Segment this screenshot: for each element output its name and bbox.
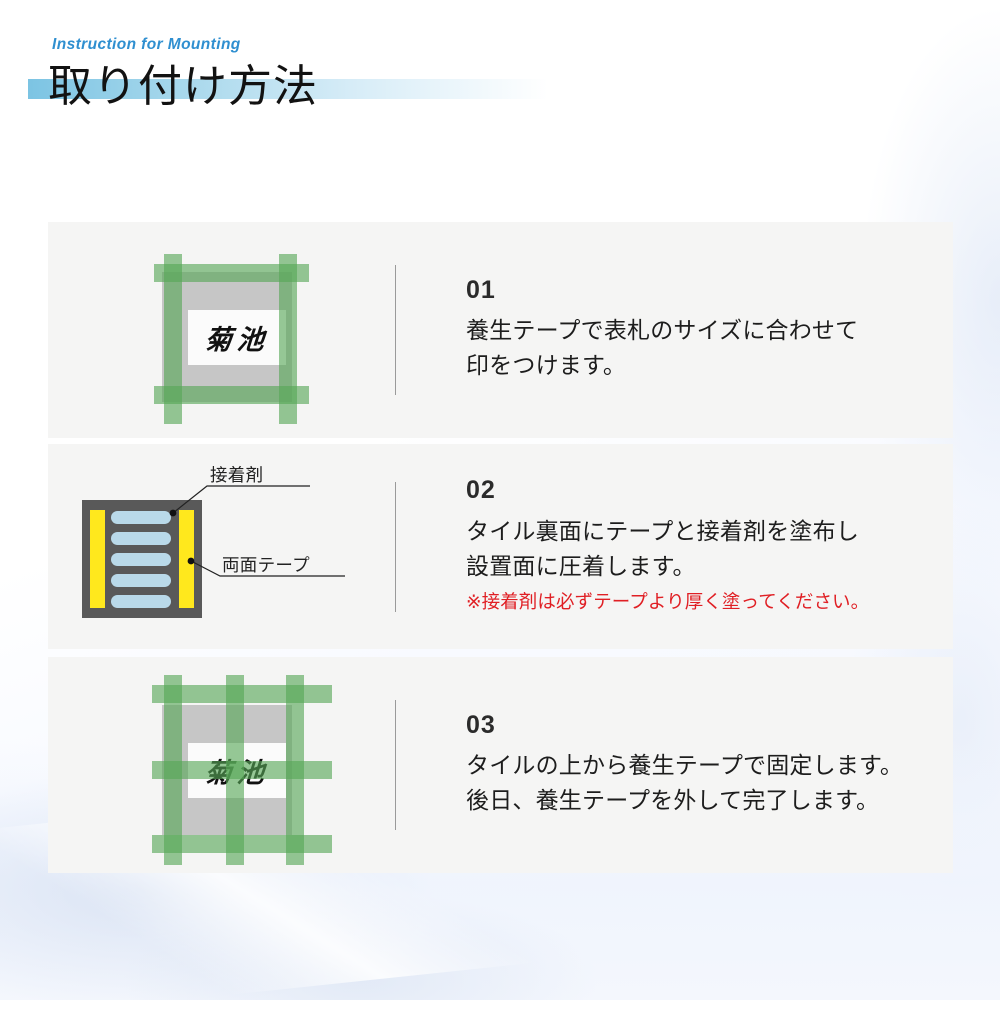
tape-strip-horizontal-bottom — [154, 386, 309, 404]
nameplate: 菊池 — [188, 310, 286, 365]
step-card-03: 菊池 03 タイルの上から養生テープで固定します。 後日、養生テープを外して完了… — [48, 657, 953, 873]
step-description-line: 印をつけます。 — [466, 348, 953, 383]
step-description-line: タイルの上から養生テープで固定します。 — [466, 748, 953, 783]
figure-plate-tape-grid: 菊池 — [126, 669, 336, 867]
step-figure-02: 接着剤 両面テープ — [48, 444, 395, 649]
tape-strip-horizontal-top — [154, 264, 309, 282]
figure-plate-tape-frame: 菊池 — [132, 246, 322, 424]
step-figure-03: 菊池 — [48, 657, 395, 873]
callout-label-adhesive: 接着剤 — [210, 462, 263, 487]
step-text-01: 01 養生テープで表札のサイズに合わせて 印をつけます。 — [396, 277, 953, 383]
page-title: 取り付け方法 — [48, 50, 318, 114]
step-card-02: 接着剤 両面テープ 02 タイル裏面にテープと接着剤を塗布し 設置面に圧着します… — [48, 444, 953, 649]
step-warning-note: ※接着剤は必ずテープより厚く塗ってください。 — [466, 588, 953, 616]
step-number: 02 — [466, 477, 953, 505]
tape-strip-vertical-right — [286, 675, 304, 865]
tape-strip-vertical-left — [164, 675, 182, 865]
figure-tile-back-adhesive: 接着剤 両面テープ — [70, 458, 390, 636]
step-figure-01: 菊池 — [48, 222, 395, 438]
tape-strip-vertical-middle — [226, 675, 244, 865]
step-description-line: 養生テープで表札のサイズに合わせて — [466, 313, 953, 348]
step-description-line: 設置面に圧着します。 — [466, 549, 953, 584]
step-number: 03 — [466, 712, 953, 740]
step-text-03: 03 タイルの上から養生テープで固定します。 後日、養生テープを外して完了します… — [396, 712, 953, 818]
step-number: 01 — [466, 277, 953, 305]
callout-label-double-sided-tape: 両面テープ — [222, 552, 310, 577]
step-description-line: タイル裏面にテープと接着剤を塗布し — [466, 514, 953, 549]
step-card-01: 菊池 01 養生テープで表札のサイズに合わせて 印をつけます。 — [48, 222, 953, 438]
step-text-02: 02 タイル裏面にテープと接着剤を塗布し 設置面に圧着します。 ※接着剤は必ずテ… — [396, 477, 953, 615]
nameplate-text: 菊池 — [186, 310, 288, 365]
step-description-line: 後日、養生テープを外して完了します。 — [466, 783, 953, 818]
page-header: Instruction for Mounting 取り付け方法 — [0, 0, 1000, 130]
